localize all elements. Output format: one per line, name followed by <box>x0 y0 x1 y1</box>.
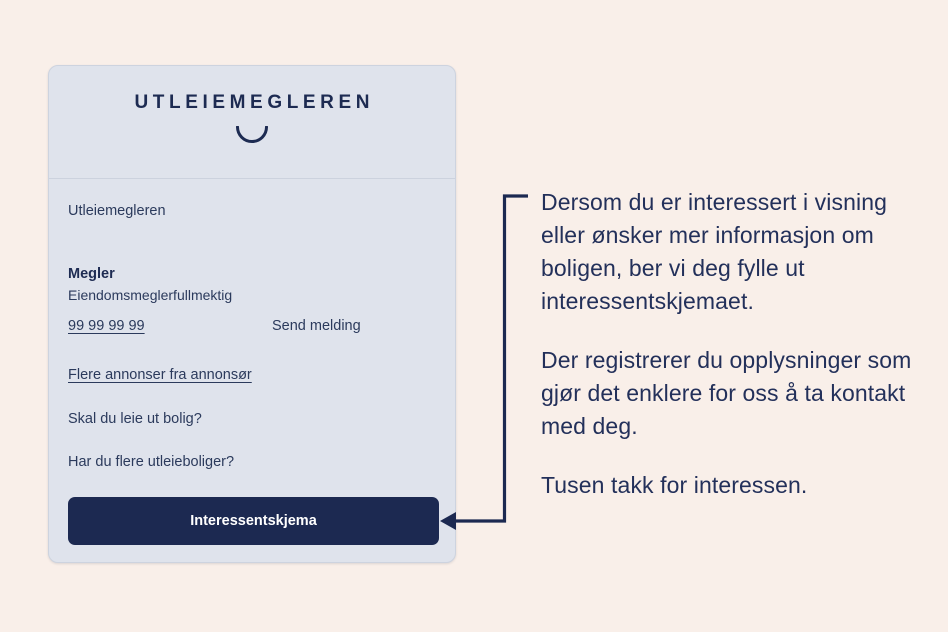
card-body: Utleiemegleren Megler Eiendomsmeglerfull… <box>49 179 455 562</box>
agent-block: Megler Eiendomsmeglerfullmektig <box>68 264 436 306</box>
more-rental-homes-link[interactable]: Har du flere utleieboliger? <box>68 454 436 471</box>
annotation-paragraph-3: Tusen takk for interessen. <box>541 469 913 502</box>
annotation-paragraph-2: Der registrerer du opplysninger som gjør… <box>541 344 913 443</box>
interest-form-button[interactable]: Interessentskjema <box>68 497 439 545</box>
smile-arc-icon <box>235 126 269 144</box>
contact-row: 99 99 99 99 Send melding <box>68 318 436 334</box>
agency-name: Utleiemegleren <box>68 203 436 220</box>
annotation-text: Dersom du er interessert i visning eller… <box>541 186 913 502</box>
send-message-link[interactable]: Send melding <box>272 318 361 334</box>
phone-link[interactable]: 99 99 99 99 <box>68 318 272 334</box>
agent-title: Eiendomsmeglerfullmektig <box>68 285 436 306</box>
rent-out-home-link[interactable]: Skal du leie ut bolig? <box>68 411 436 428</box>
more-ads-from-advertiser-link[interactable]: Flere annonser fra annonsør <box>68 367 436 384</box>
agent-role: Megler <box>68 264 436 285</box>
advertiser-links: Flere annonser fra annonsør Skal du leie… <box>68 367 436 471</box>
brand-wordmark: UTLEIEMEGLEREN <box>130 93 374 112</box>
card-header: UTLEIEMEGLEREN <box>49 66 455 179</box>
annotation-paragraph-1: Dersom du er interessert i visning eller… <box>541 186 913 318</box>
contact-card: UTLEIEMEGLEREN Utleiemegleren Megler Eie… <box>48 65 456 563</box>
